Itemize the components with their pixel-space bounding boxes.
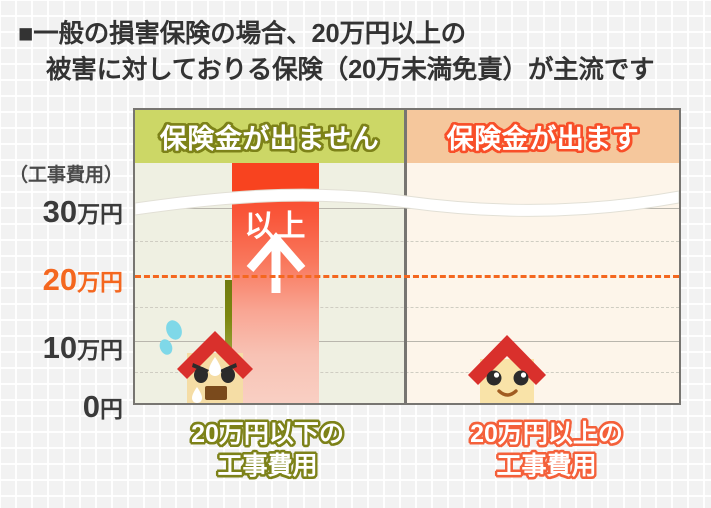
y-tick-10: 10万円 <box>43 332 123 363</box>
sad-house-icon <box>157 313 257 403</box>
page-title: ■一般の損害保険の場合、20万円以上の 被害に対しておりる保険（20万未満免責）… <box>18 16 708 88</box>
gridline-25 <box>135 241 679 242</box>
caption-left-line-1: 20万円以下の <box>133 418 402 450</box>
y-tick-0-number: 0 <box>83 389 100 424</box>
gridline-15 <box>135 307 679 308</box>
y-tick-20-number: 20 <box>43 262 77 297</box>
banner-covered: 保険金が出ます <box>407 110 679 163</box>
y-tick-30-suffix: 万円 <box>77 201 123 227</box>
banner-not-covered: 保険金が出ません <box>135 110 404 163</box>
y-tick-10-suffix: 万円 <box>77 337 123 363</box>
y-tick-20-suffix: 万円 <box>77 269 123 295</box>
gridline-30 <box>135 208 679 209</box>
up-arrow-icon <box>244 231 308 295</box>
bar-right-cap <box>232 163 319 191</box>
caption-right-line-2: 工事費用 <box>412 450 681 482</box>
heading-line-1: ■一般の損害保険の場合、20万円以上の <box>18 16 708 52</box>
y-axis: （工事費用） 30万円 20万円 10万円 0円 <box>0 108 131 408</box>
y-tick-30: 30万円 <box>43 196 123 227</box>
caption-over-200k: 20万円以上の 工事費用 <box>412 418 681 482</box>
y-tick-10-number: 10 <box>43 330 77 365</box>
y-tick-30-number: 30 <box>43 194 77 229</box>
caption-left-line-2: 工事費用 <box>133 450 402 482</box>
threshold-line-200k <box>135 275 679 278</box>
y-tick-0-suffix: 円 <box>100 396 123 422</box>
caption-right-line-1: 20万円以上の <box>412 418 681 450</box>
y-tick-20: 20万円 <box>43 264 123 295</box>
y-axis-unit-label: （工事費用） <box>9 166 123 185</box>
y-tick-0: 0円 <box>83 391 123 422</box>
happy-house-icon <box>458 331 552 403</box>
caption-under-200k: 20万円以下の 工事費用 <box>133 418 402 482</box>
heading-line-2: 被害に対しておりる保険（20万未満免責）が主流です <box>18 52 708 88</box>
